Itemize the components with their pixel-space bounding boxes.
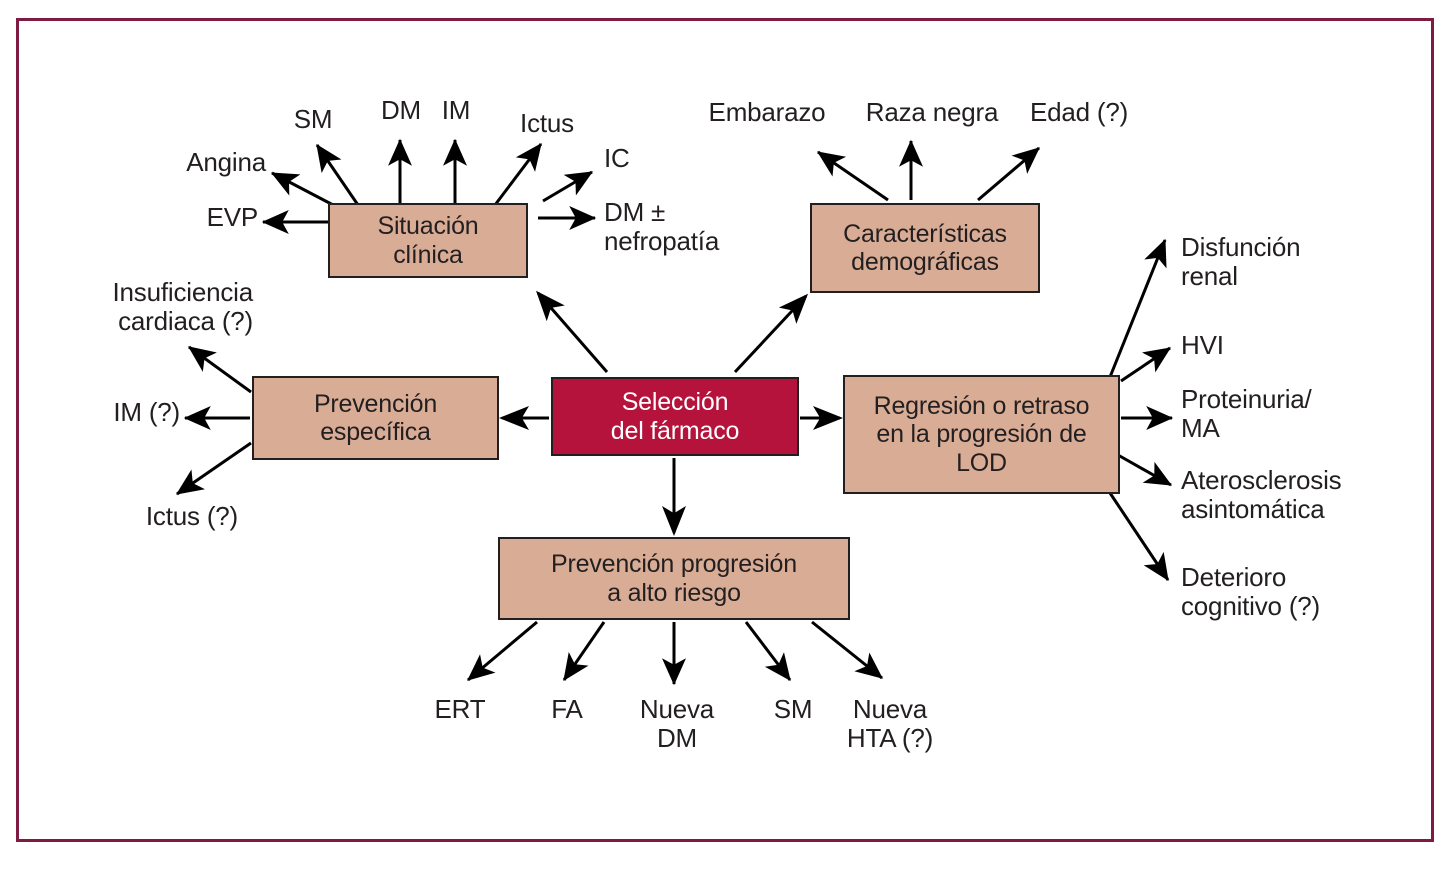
arrow-to-hvi [1121,348,1170,381]
label-im-top: IM [442,96,470,125]
label-angina: Angina [186,148,266,177]
label-raza-negra: Raza negra [866,98,998,127]
arrow-to-embarazo [818,152,888,200]
node-regresion-retraso-lod[interactable]: Regresión o retraso en la progresión de … [843,375,1120,494]
label-edad: Edad (?) [1030,98,1128,127]
label-deterioro-cognitivo: Deterioro cognitivo (?) [1181,563,1320,620]
arrow-to-ictus-q [177,443,251,494]
label-nueva-dm: Nueva DM [640,695,714,752]
arrow-center-to-demographic [735,296,806,372]
label-nueva-hta: Nueva HTA (?) [847,695,933,752]
arrows-prevention [177,347,251,494]
arrows-progression [468,622,882,684]
arrow-to-sm-top [317,145,358,205]
node-caracteristicas-demograficas[interactable]: Características demográficas [810,203,1040,293]
label-dm-nefropatia: DM ± nefropatía [604,198,719,255]
arrows-demographic [818,141,1039,200]
node-prevencion-progresion-alto-riesgo[interactable]: Prevención progresión a alto riesgo [498,537,850,620]
label-insuficiencia-cardiaca: Insuficiencia cardiaca (?) [113,278,253,335]
label-im-interrogante: IM (?) [113,398,180,427]
arrow-to-ic [543,172,592,201]
label-ert: ERT [435,695,486,724]
label-ictus-interrogante: Ictus (?) [146,502,238,531]
label-evp: EVP [207,203,258,232]
label-proteinuria-ma: Proteinuria/ MA [1181,385,1312,442]
arrow-to-edad [978,148,1039,200]
arrow-to-sm-bottom [746,622,790,680]
label-disfuncion-renal: Disfunción renal [1181,233,1300,290]
node-situacion-clinica[interactable]: Situación clínica [328,203,528,278]
label-ic: IC [604,144,630,173]
label-fa: FA [551,695,582,724]
arrow-to-nueva-hta [812,622,882,678]
label-aterosclerosis-asintomatica: Aterosclerosis asintomática [1181,466,1341,523]
figure-canvas: Situación clínica Características demogr… [0,0,1450,870]
label-sm-top: SM [294,105,333,134]
node-prevencion-especifica[interactable]: Prevención específica [252,376,499,460]
label-dm-top: DM [381,96,421,125]
label-embarazo: Embarazo [709,98,826,127]
node-seleccion-del-farmaco[interactable]: Selección del fármaco [551,377,799,456]
label-ictus-top: Ictus [520,109,574,138]
arrow-to-deterioro-cognitivo [1108,490,1168,580]
arrow-center-to-clinical [538,293,607,372]
label-hvi: HVI [1181,331,1224,360]
arrow-to-aterosclerosis [1118,455,1171,485]
arrow-to-ictus-top [495,144,541,205]
label-sm-bottom: SM [774,695,813,724]
arrow-to-insuficiencia-cardiaca [189,347,251,392]
arrow-to-ert [468,622,537,680]
arrow-to-angina [272,173,337,207]
arrow-to-fa [564,622,604,680]
